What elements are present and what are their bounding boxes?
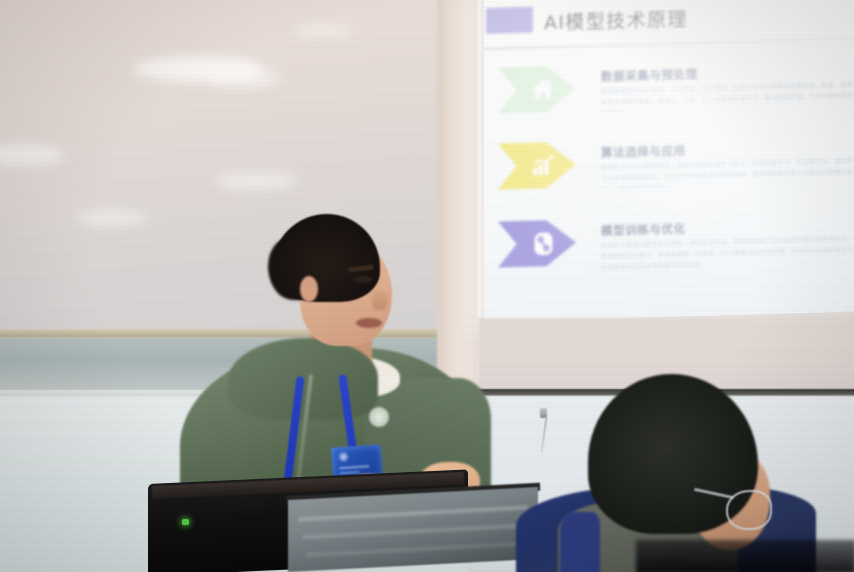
section-3-body: 利用历史数据对模型进行训练，通过交叉验证、网格搜索等方法优化超参数以避免过拟合；… bbox=[601, 234, 854, 279]
presenter-hair bbox=[272, 214, 380, 302]
podium-cover bbox=[288, 487, 538, 572]
presenter-ear bbox=[300, 276, 318, 302]
presenter-jacket-logo bbox=[368, 406, 390, 428]
presenter-eye bbox=[353, 276, 372, 283]
section-3-heading: 模型训练与优化 bbox=[601, 220, 686, 238]
section-2-heading: 算法选择与应用 bbox=[601, 142, 686, 160]
badge-highlight bbox=[339, 453, 348, 462]
slide-content: AI模型技术原理 数据采集与预处理 数据是模型训练的基础，从传感器、社交媒体、交… bbox=[484, 0, 854, 322]
glasses-lens bbox=[726, 490, 772, 530]
slide-title-divider bbox=[484, 37, 854, 50]
slide-section-1: 数据采集与预处理 数据是模型训练的基础，从传感器、社交媒体、交易记录等多种渠道采… bbox=[484, 57, 854, 68]
slide-section-3: 模型训练与优化 利用历史数据对模型进行训练，通过交叉验证、网格搜索等方法优化超参… bbox=[484, 211, 854, 222]
projection-screen: AI模型技术原理 数据采集与预处理 数据是模型训练的基础，从传感器、社交媒体、交… bbox=[484, 0, 854, 322]
section-1-heading: 数据采集与预处理 bbox=[601, 66, 698, 85]
presenter-nose bbox=[372, 290, 388, 310]
badge-text-line bbox=[339, 465, 369, 469]
presenter-mouth bbox=[356, 318, 382, 328]
power-led-indicator bbox=[182, 519, 189, 525]
section-2-body: 根据任务目标与数据特征，选择合适的机器学习算法，包括监督学习、无监督学习、强化学… bbox=[601, 156, 854, 189]
bar-chart-icon bbox=[528, 149, 558, 182]
percent-icon bbox=[528, 227, 558, 260]
audience-jacket-strap bbox=[560, 512, 600, 572]
section-1-body: 数据是模型训练的基础，从传感器、社交媒体、交易记录等多种渠道采集文本、图像、音视… bbox=[601, 80, 854, 113]
slide-title-accent bbox=[486, 7, 533, 34]
foreground-shadow bbox=[636, 540, 854, 572]
slide-title: AI模型技术原理 bbox=[544, 4, 688, 35]
lecture-photo-scene: AI模型技术原理 数据采集与预处理 数据是模型训练的基础，从传感器、社交媒体、交… bbox=[0, 0, 854, 572]
slide-section-2: 算法选择与应用 根据任务目标与数据特征，选择合适的机器学习算法，包括监督学习、无… bbox=[484, 133, 854, 144]
house-icon bbox=[528, 73, 558, 106]
